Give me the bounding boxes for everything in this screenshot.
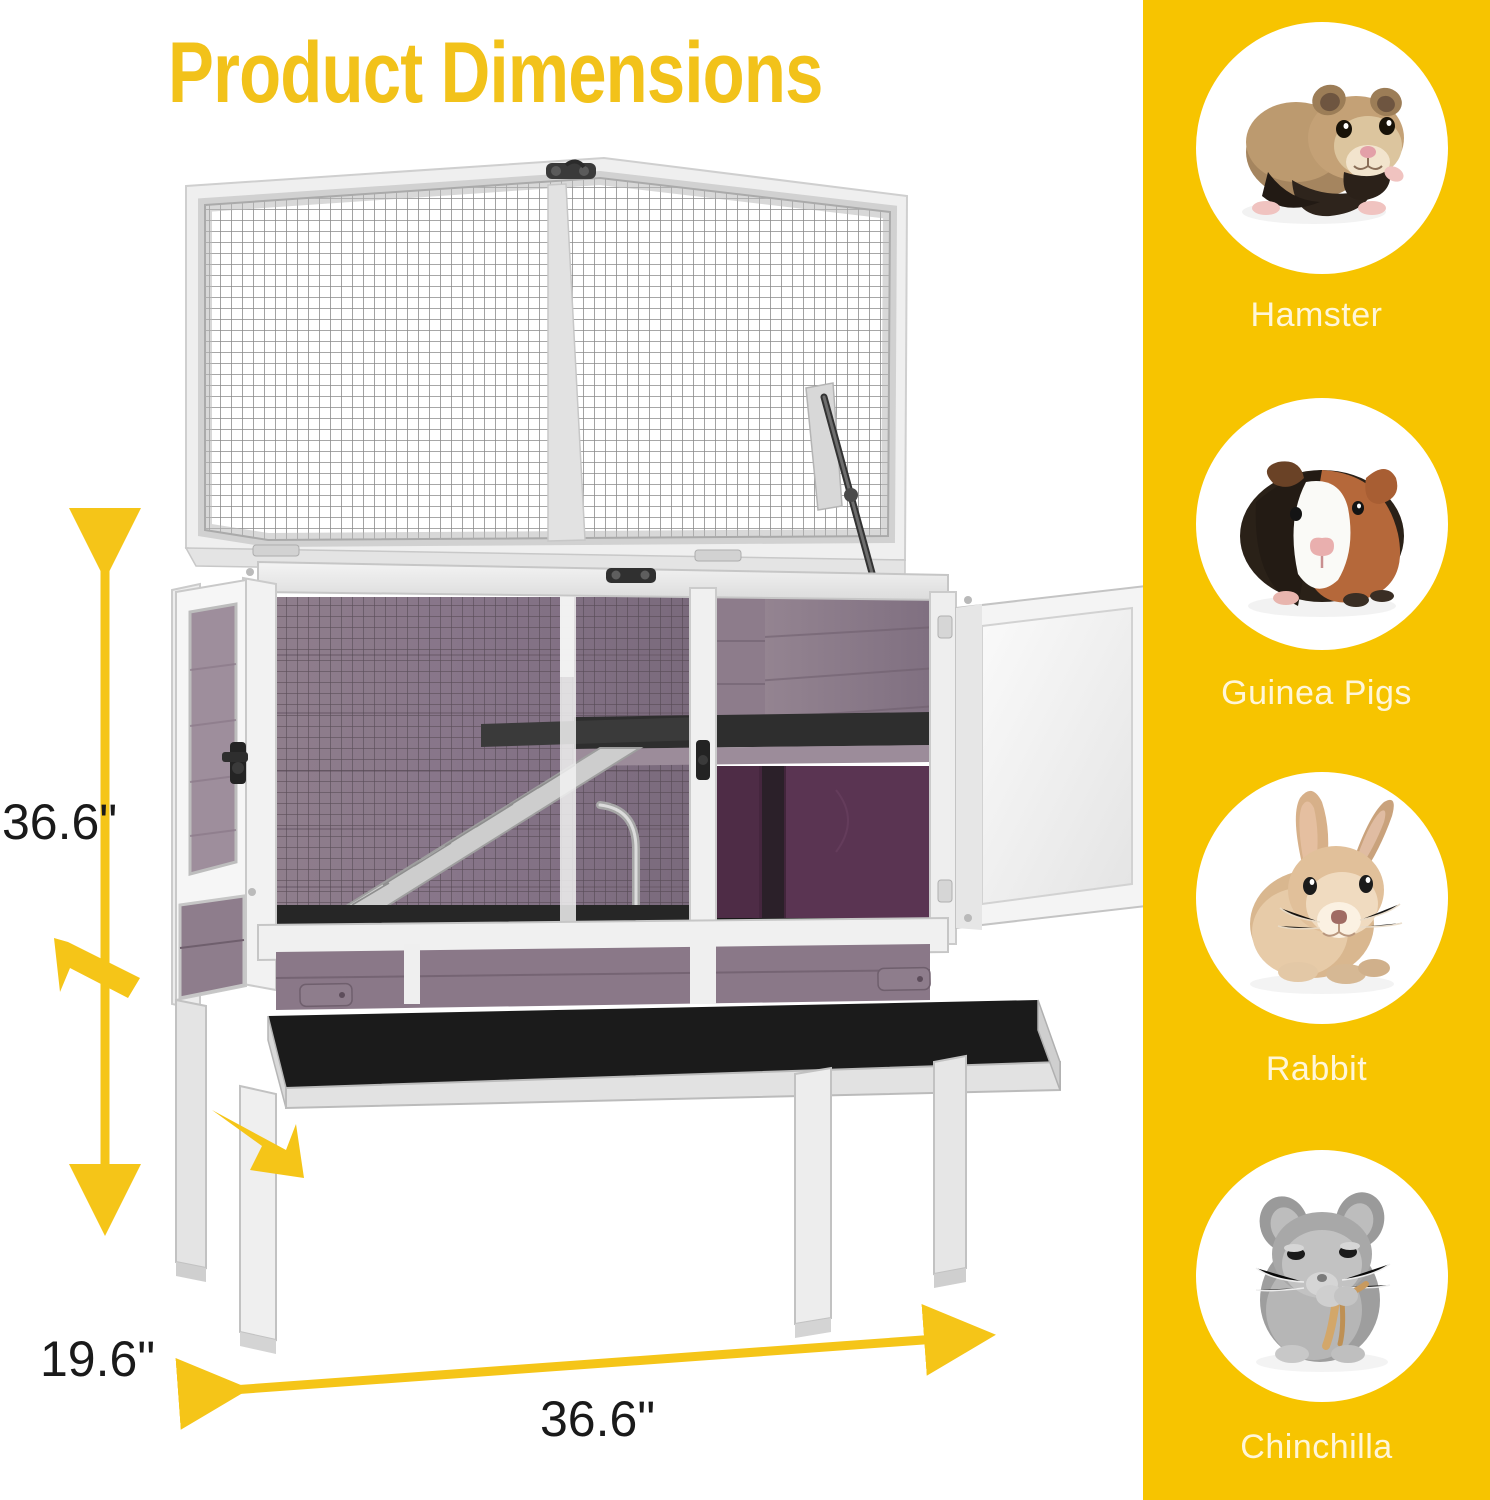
hutch-lid: [186, 158, 907, 627]
pet-label-hamster: Hamster: [1143, 296, 1490, 335]
guinea-pig-photo: [1196, 398, 1448, 650]
hamster-photo: [1196, 22, 1448, 274]
rabbit-photo: [1196, 772, 1448, 1024]
width-dimension-label: 36.6": [540, 1390, 655, 1448]
hutch-body: [172, 562, 1146, 1354]
open-door: [938, 586, 1146, 930]
door-latch-icon: [696, 740, 710, 780]
pet-item-guinea-pigs: Guinea Pigs: [1143, 380, 1490, 760]
pet-item-hamster: Hamster: [1143, 0, 1490, 380]
infographic-root: Product Dimensions: [0, 0, 1490, 1500]
pet-sidebar: Hamster: [1143, 0, 1490, 1500]
pet-item-chinchilla: Chinchilla: [1143, 1140, 1490, 1500]
depth-dimension-label: 19.6": [40, 1330, 155, 1388]
pet-item-rabbit: Rabbit: [1143, 760, 1490, 1140]
pet-label-chinchilla: Chinchilla: [1143, 1428, 1490, 1467]
pet-label-rabbit: Rabbit: [1143, 1050, 1490, 1089]
body-latch-icon: [606, 568, 656, 583]
height-dimension-label: 36.6": [2, 793, 117, 851]
lid-latch-icon: [546, 161, 596, 179]
chinchilla-photo: [1196, 1150, 1448, 1402]
pet-label-guinea-pigs: Guinea Pigs: [1143, 674, 1490, 713]
side-door-panel: [176, 568, 256, 1000]
